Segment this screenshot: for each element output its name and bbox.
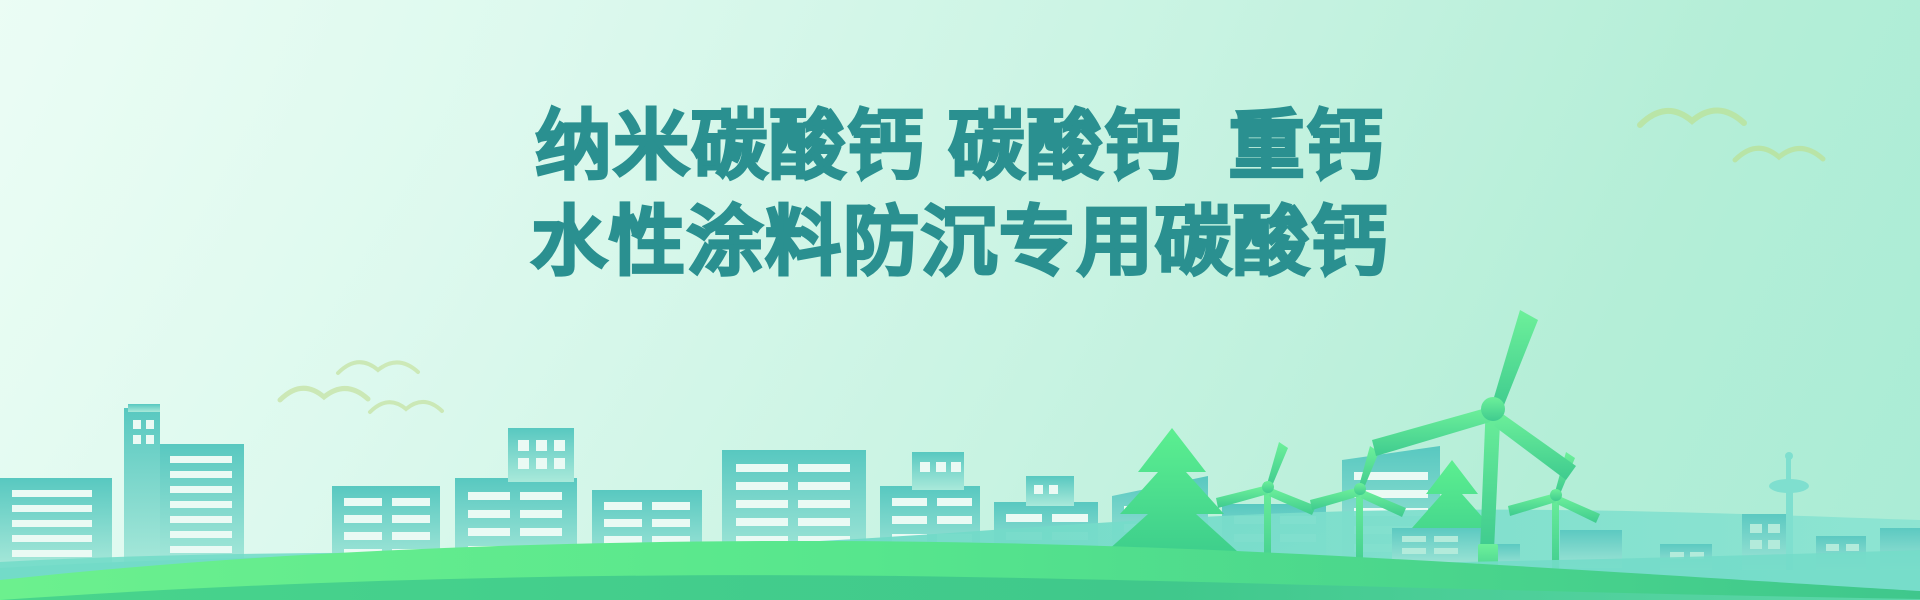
landscape-scene [0, 300, 1920, 600]
promotional-banner: 纳米碳酸钙 碳酸钙 重钙 水性涂料防沉专用碳酸钙 [0, 0, 1920, 600]
